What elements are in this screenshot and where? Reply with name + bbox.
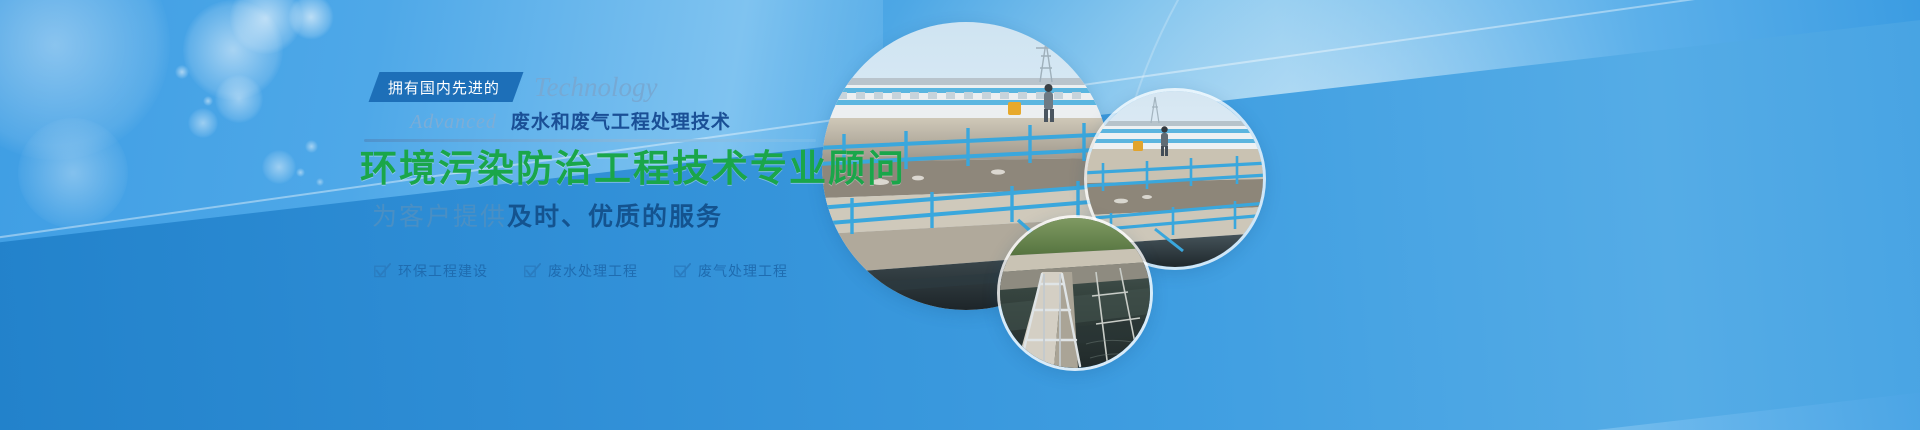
banner-copy: 拥有国内先进的 Technology Advanced 废水和废气工程处理技术 … [360, 60, 830, 281]
tagline-chip-label: 拥有国内先进的 [388, 77, 500, 98]
divider-rule [364, 139, 816, 142]
treatment-pond-illustration [1000, 218, 1150, 368]
tagline-chip: 拥有国内先进的 [369, 72, 524, 102]
sub-headline-soft: 为客户提供 [372, 203, 507, 231]
check-icon [524, 263, 541, 278]
sub-headline-strong: 及时、优质的服务 [507, 203, 723, 231]
tagline-row: 拥有国内先进的 Technology [360, 60, 830, 102]
feature-item-waste-gas-treatment[interactable]: 废气处理工程 [674, 261, 788, 281]
check-icon [674, 263, 691, 278]
page-title: 环境污染防治工程技术专业顾问 [360, 148, 830, 191]
feature-list: 环保工程建设 废水处理工程 废气处理工程 [374, 261, 830, 281]
advanced-word: Advanced [410, 111, 497, 134]
feature-item-wastewater-treatment[interactable]: 废水处理工程 [524, 261, 638, 281]
hero-banner: 拥有国内先进的 Technology Advanced 废水和废气工程处理技术 … [0, 0, 1920, 430]
technology-word: Technology [534, 74, 658, 102]
photo-treatment-pond-platform [997, 215, 1153, 371]
feature-item-environmental-construction[interactable]: 环保工程建设 [374, 261, 488, 281]
check-icon [374, 263, 391, 278]
sub-headline: 为客户提供及时、优质的服务 [372, 197, 830, 233]
photo-cluster [0, 0, 1920, 430]
subtitle-row: Advanced 废水和废气工程处理技术 [360, 107, 830, 134]
feature-item-label: 废气处理工程 [698, 261, 788, 281]
feature-item-label: 废水处理工程 [548, 261, 638, 281]
subtitle-chinese: 废水和废气工程处理技术 [511, 107, 731, 134]
feature-item-label: 环保工程建设 [398, 261, 488, 281]
